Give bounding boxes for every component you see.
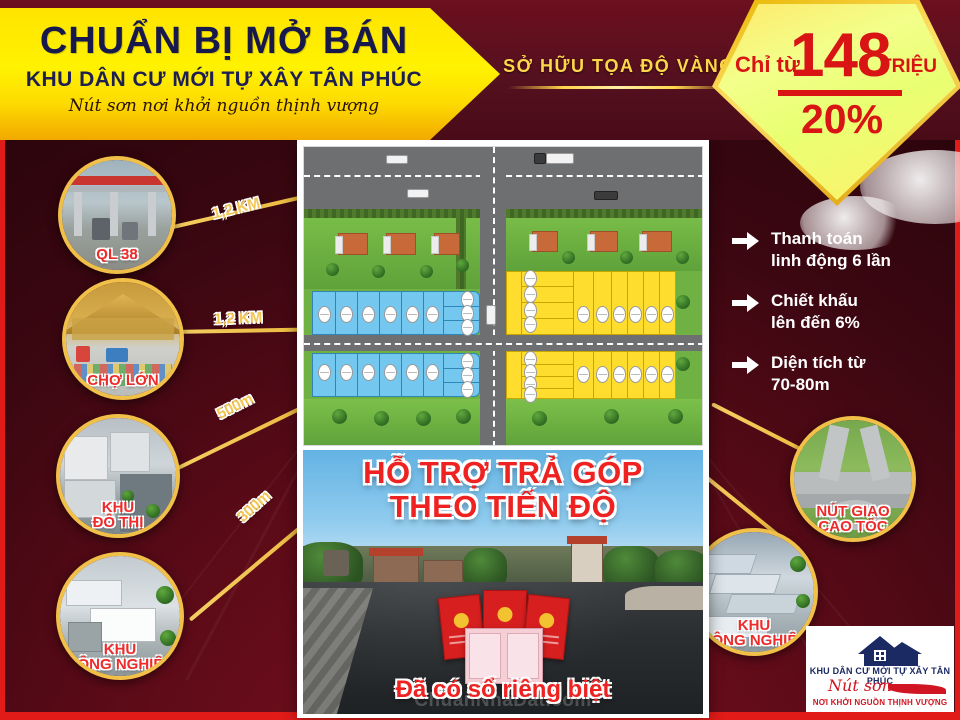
location-circle-nut-giao-cao-toc[interactable]: NÚT GIAO CAO TỐC <box>790 416 916 542</box>
location-circle-khu-cong-nghiep-right[interactable]: KHU CÔNG NGHIỆP <box>690 528 818 656</box>
arrow-right-icon <box>732 232 759 250</box>
truck-icon <box>546 153 574 164</box>
feature-text: Chiết khấu lên đến 6% <box>771 290 860 334</box>
promo-photo: HỖ TRỢ TRẢ GÓP THEO TIẾN ĐỘ ChuanNhaDat.… <box>303 450 703 714</box>
company-logo[interactable]: KHU DÂN CƯ MỚI TỰ XÂY TÂN PHÚC Nút sơn N… <box>806 626 954 712</box>
feature-line2: 70-80m <box>771 375 830 394</box>
location-caption-line2: CAO TỐC <box>818 518 887 535</box>
location-caption: KHU CÔNG NGHIỆP <box>60 642 180 672</box>
lot-block-blue-upper[interactable] <box>312 291 480 335</box>
lot-block-blue-lower[interactable] <box>312 353 480 397</box>
lot-block-yellow-lower[interactable] <box>506 351 676 399</box>
promo-title-line2: THEO TIẾN ĐỘ <box>390 489 616 524</box>
distance-label: 1,2 KM <box>214 309 263 328</box>
feature-line1: Thanh toán <box>771 229 863 248</box>
house-icon <box>532 231 558 252</box>
house-icon <box>642 231 672 252</box>
location-circle-khu-do-thi[interactable]: KHU ĐÔ THỊ <box>56 414 180 538</box>
feature-item-area: Diện tích từ 70-80m <box>732 352 944 396</box>
arrow-right-icon <box>732 294 759 312</box>
feature-line2: linh động 6 lần <box>771 251 891 270</box>
location-caption: NÚT GIAO CAO TỐC <box>794 504 912 534</box>
location-caption: KHU CÔNG NGHIỆP <box>694 618 814 648</box>
car-icon <box>534 153 546 164</box>
location-caption-line2: CÔNG NGHIỆP <box>701 632 808 649</box>
car-icon <box>386 155 408 164</box>
house-icon <box>590 231 618 252</box>
location-caption: CHỢ LỚN <box>66 373 180 388</box>
feature-line1: Diện tích từ <box>771 353 865 372</box>
location-caption: KHU ĐÔ THỊ <box>60 500 176 530</box>
house-logo-icon <box>806 628 954 668</box>
house-icon <box>338 233 368 255</box>
lot-block-yellow-upper[interactable] <box>506 271 676 335</box>
promo-title: HỖ TRỢ TRẢ GÓP THEO TIẾN ĐỘ <box>303 456 703 524</box>
promo-title-line1: HỖ TRỢ TRẢ GÓP <box>363 455 643 490</box>
feature-line2: lên đến 6% <box>771 313 860 332</box>
location-caption: QL 38 <box>62 247 172 262</box>
location-caption-line2: ĐÔ THỊ <box>93 514 144 531</box>
center-panel: HỖ TRỢ TRẢ GÓP THEO TIẾN ĐỘ ChuanNhaDat.… <box>297 140 709 718</box>
location-circle-ql38[interactable]: QL 38 <box>58 156 176 274</box>
feature-item-discount: Chiết khấu lên đến 6% <box>732 290 944 334</box>
site-plan-map[interactable] <box>303 146 703 446</box>
car-icon <box>407 189 429 198</box>
feature-text: Diện tích từ 70-80m <box>771 352 865 396</box>
house-icon <box>386 233 416 255</box>
arrow-right-icon <box>732 356 759 374</box>
real-estate-poster: CHUẨN BỊ MỞ BÁN KHU DÂN CƯ MỚI TỰ XÂY TÂ… <box>0 0 960 720</box>
location-circle-cho-lon[interactable]: CHỢ LỚN <box>62 278 184 400</box>
promo-bottom-text: Đã có sổ riêng biệt <box>303 676 703 704</box>
feature-text: Thanh toán linh động 6 lần <box>771 228 891 272</box>
car-icon <box>594 191 618 200</box>
car-icon <box>486 305 496 325</box>
logo-tagline: NƠI KHỞI NGUỒN THỊNH VƯỢNG <box>806 698 954 707</box>
house-icon <box>434 233 460 255</box>
location-caption-line2: CÔNG NGHIỆP <box>67 656 174 673</box>
feature-item-payment: Thanh toán linh động 6 lần <box>732 228 944 272</box>
location-circle-khu-cong-nghiep-left[interactable]: KHU CÔNG NGHIỆP <box>56 552 184 680</box>
feature-line1: Chiết khấu <box>771 291 858 310</box>
